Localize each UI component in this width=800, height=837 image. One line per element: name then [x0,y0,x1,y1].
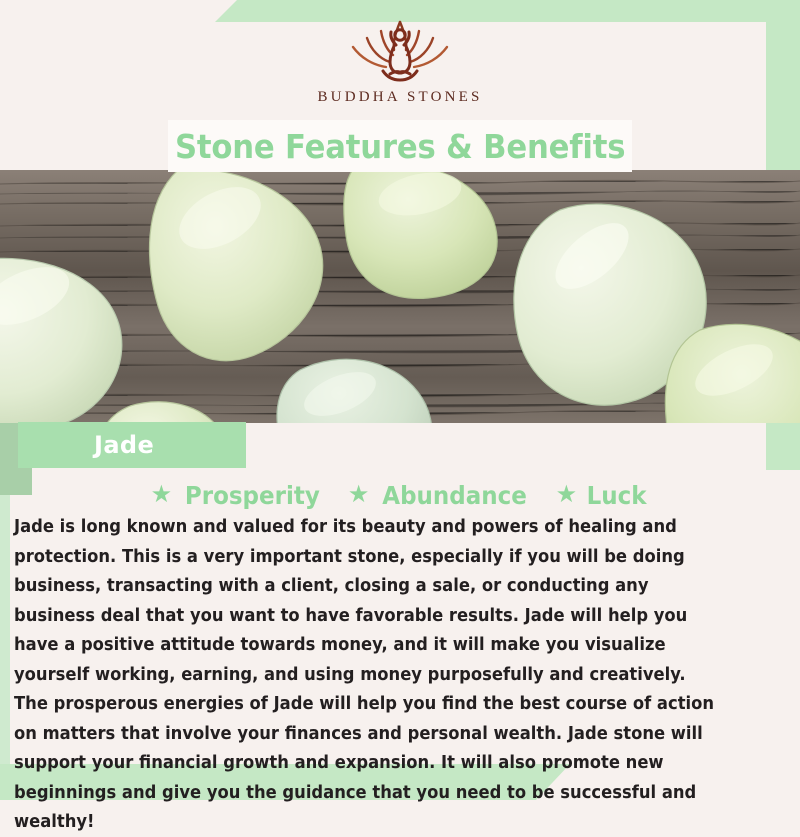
benefit-item-prosperity: ★ Prosperity [151,481,326,510]
stone-name: Jade [94,431,154,459]
star-icon: ★ [348,483,370,507]
poster-canvas: BUDDHA STONES Stone Features & Benefits [0,0,800,800]
benefit-item-luck: ★ Luck [556,481,650,510]
benefit-label: Luck [587,481,647,510]
star-icon: ★ [151,483,173,507]
benefits-row: ★ Prosperity ★ Abundance ★ Luck [0,478,800,512]
benefit-label: Abundance [383,481,528,510]
star-icon: ★ [556,483,578,507]
stone-photo [0,170,800,423]
lotus-meditation-icon [335,14,465,86]
benefit-item-abundance: ★ Abundance [348,481,534,510]
page-title: Stone Features & Benefits [175,127,625,166]
brand-header: BUDDHA STONES [0,0,800,120]
stone-name-banner: Jade [18,422,246,468]
decor-left-green-strip [0,495,10,783]
stone-description: Jade is long known and valued for its be… [14,512,716,837]
benefit-label: Prosperity [185,481,320,510]
title-banner: Stone Features & Benefits [168,120,632,172]
brand-name: BUDDHA STONES [317,89,482,106]
